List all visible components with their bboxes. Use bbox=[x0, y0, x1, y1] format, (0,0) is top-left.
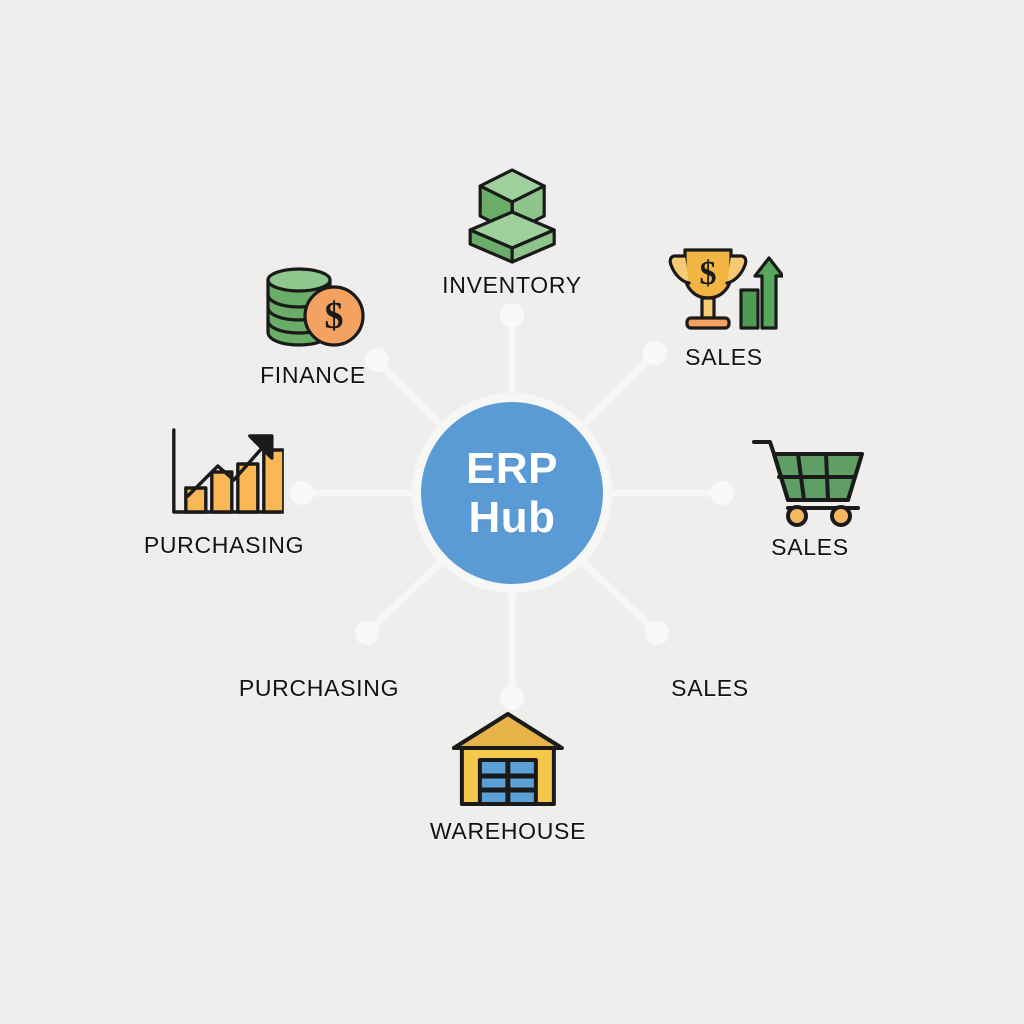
node-sales-top[interactable]: $ SALES bbox=[664, 232, 784, 371]
node-warehouse[interactable]: WAREHOUSE bbox=[430, 706, 586, 845]
hub-title-line1: ERP bbox=[466, 445, 558, 492]
spoke-dot-sales-right bbox=[710, 481, 734, 505]
node-label-inventory: INVENTORY bbox=[442, 272, 582, 299]
trophy-growth-icon: $ bbox=[664, 232, 784, 340]
node-purchasing-bottom[interactable]: PURCHASING bbox=[239, 675, 399, 702]
node-label-sales-bottom: SALES bbox=[671, 675, 749, 702]
spoke-purchasing-bottom bbox=[367, 562, 441, 633]
spoke-sales-top bbox=[583, 353, 655, 425]
svg-text:$: $ bbox=[325, 295, 344, 337]
erp-hub-diagram: ERP Hub $ FINANCE bbox=[0, 0, 1024, 1024]
node-inventory[interactable]: INVENTORY bbox=[442, 160, 582, 299]
node-sales-right[interactable]: SALES bbox=[750, 422, 870, 561]
spoke-dot-sales-bottom bbox=[645, 621, 669, 645]
spoke-sales-bottom bbox=[583, 562, 657, 633]
warehouse-icon bbox=[448, 706, 568, 814]
node-label-warehouse: WAREHOUSE bbox=[430, 818, 586, 845]
erp-hub-center[interactable]: ERP Hub bbox=[412, 393, 612, 593]
spoke-finance bbox=[377, 360, 443, 427]
node-label-purchasing-left: PURCHASING bbox=[144, 532, 304, 559]
spoke-dot-purchasing-bottom bbox=[355, 621, 379, 645]
boxes-icon bbox=[452, 160, 572, 268]
node-finance[interactable]: $ FINANCE bbox=[253, 250, 373, 389]
svg-text:$: $ bbox=[700, 255, 717, 292]
shopping-cart-icon bbox=[750, 422, 870, 530]
coins-icon: $ bbox=[253, 250, 373, 358]
node-label-sales-top: SALES bbox=[685, 344, 763, 371]
hub-title-line2: Hub bbox=[468, 494, 555, 541]
node-sales-bottom[interactable]: SALES bbox=[671, 675, 749, 702]
node-label-purchasing-bottom: PURCHASING bbox=[239, 675, 399, 702]
node-label-sales-right: SALES bbox=[771, 534, 849, 561]
bar-chart-growth-icon bbox=[164, 420, 284, 528]
node-label-finance: FINANCE bbox=[260, 362, 366, 389]
node-purchasing-left[interactable]: PURCHASING bbox=[144, 420, 304, 559]
spoke-dot-inventory bbox=[500, 303, 524, 327]
